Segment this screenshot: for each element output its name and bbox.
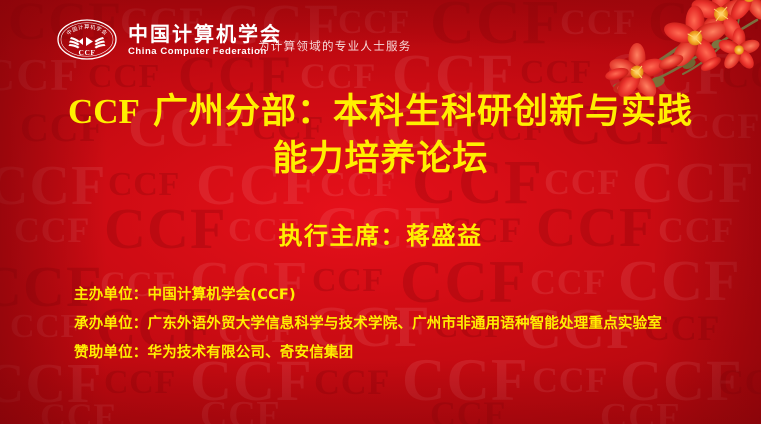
org-line-coorganizer: 承办单位：广东外语外贸大学信息科学与技术学院、广州市非通用语种智能处理重点实验室	[74, 310, 744, 339]
organization-list: 主办单位：中国计算机学会(CCF) 承办单位：广东外语外贸大学信息科学与技术学院…	[74, 281, 744, 368]
title-line-1-prefix: CCF	[68, 92, 140, 131]
title-line-1-rest: 广州分部：本科生科研创新与实践	[140, 92, 693, 132]
org-value-coorganizer: 广东外语外贸大学信息科学与技术学院、广州市非通用语种智能处理重点实验室	[148, 316, 663, 332]
org-label-coorganizer: 承办单位：	[74, 316, 148, 332]
org-value-host: 中国计算机学会(CCF)	[148, 287, 296, 303]
ccf-logo: 中国计算机学会 CCF 中国计算机学会 China Computer Feder…	[56, 18, 282, 61]
ccf-tagline: 为计算领域的专业人士服务	[258, 38, 412, 54]
org-line-host: 主办单位：中国计算机学会(CCF)	[74, 281, 744, 310]
poster-title: CCF 广州分部：本科生科研创新与实践 能力培养论坛	[0, 88, 761, 183]
org-value-sponsor: 华为技术有限公司、奇安信集团	[148, 345, 354, 361]
org-label-host: 主办单位：	[74, 287, 148, 303]
title-line-1: CCF 广州分部：本科生科研创新与实践	[0, 88, 761, 136]
org-line-sponsor: 赞助单位：华为技术有限公司、奇安信集团	[74, 339, 744, 368]
executive-chair: 执行主席：蒋盛益	[0, 216, 761, 251]
svg-text:CCF: CCF	[79, 48, 96, 57]
ccf-emblem-icon: 中国计算机学会 CCF	[56, 18, 118, 61]
org-label-sponsor: 赞助单位：	[74, 345, 148, 361]
poster-canvas: CCFCCFCCFCCFCCFCCFCCFCCFCCFCCFCCFCCFCCFC…	[0, 0, 761, 424]
title-line-2: 能力培养论坛	[0, 136, 761, 183]
svg-text:中国计算机学会: 中国计算机学会	[65, 23, 110, 38]
